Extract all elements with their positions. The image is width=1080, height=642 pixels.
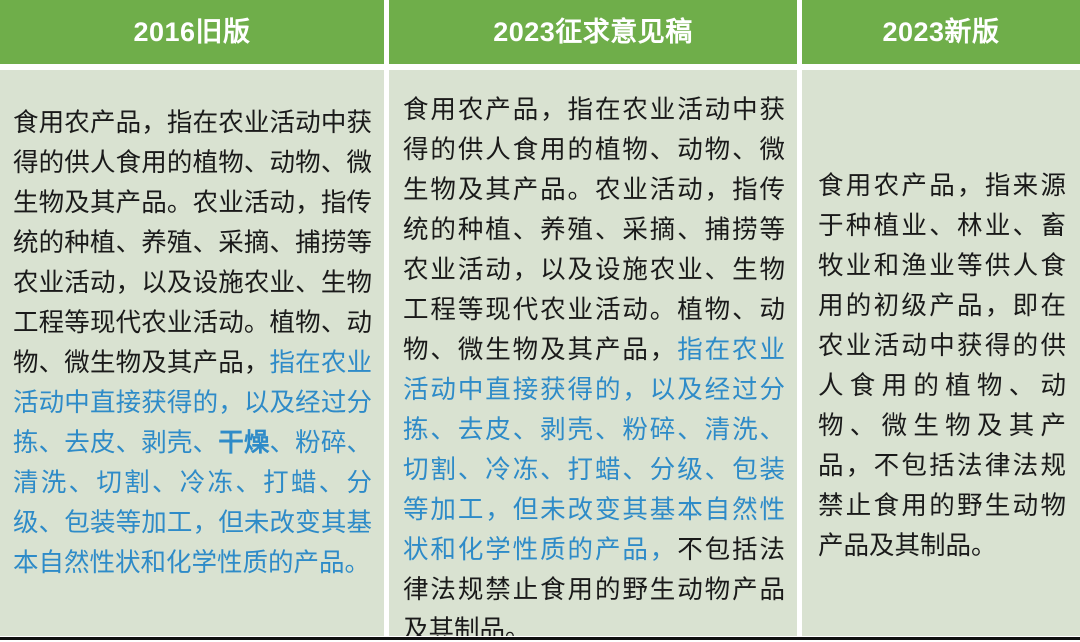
table-header-row: 2016旧版 2023征求意见稿 2023新版 bbox=[0, 0, 1080, 64]
table-body-row: 食用农产品，指在农业活动中获得的供人食用的植物、动物、微生物及其产品。农业活动，… bbox=[0, 70, 1080, 636]
cell-paragraph-2023-new: 食用农产品，指来源于种植业、林业、畜牧业和渔业等供人食用的初级产品，即在农业活动… bbox=[818, 166, 1066, 566]
cell-paragraph-2023-draft: 食用农产品，指在农业活动中获得的供人食用的植物、动物、微生物及其产品。农业活动，… bbox=[403, 90, 785, 636]
text-segment-2: 指在农业活动中直接获得的，以及经过分拣、去皮、剥壳、粉碎、清洗、切割、冷冻、打蜡… bbox=[403, 336, 785, 564]
text-segment-3: 干燥 bbox=[218, 429, 269, 457]
comparison-table: 2016旧版 2023征求意见稿 2023新版 食用农产品，指在农业活动中获得的… bbox=[0, 0, 1080, 642]
body-cell-2023-new: 食用农产品，指来源于种植业、林业、畜牧业和渔业等供人食用的初级产品，即在农业活动… bbox=[802, 70, 1080, 636]
header-cell-2023-new: 2023新版 bbox=[802, 0, 1080, 64]
header-label-2016-old: 2016旧版 bbox=[133, 19, 250, 46]
header-label-2023-draft: 2023征求意见稿 bbox=[493, 19, 693, 46]
cell-paragraph-2016-old: 食用农产品，指在农业活动中获得的供人食用的植物、动物、微生物及其产品。农业活动，… bbox=[13, 103, 372, 583]
body-cell-2016-old: 食用农产品，指在农业活动中获得的供人食用的植物、动物、微生物及其产品。农业活动，… bbox=[0, 70, 384, 636]
text-segment-1: 食用农产品，指在农业活动中获得的供人食用的植物、动物、微生物及其产品。农业活动，… bbox=[13, 109, 372, 377]
header-cell-2016-old: 2016旧版 bbox=[0, 0, 384, 64]
text-segment-1: 食用农产品，指来源于种植业、林业、畜牧业和渔业等供人食用的初级产品，即在农业活动… bbox=[818, 172, 1066, 560]
body-cell-2023-draft: 食用农产品，指在农业活动中获得的供人食用的植物、动物、微生物及其产品。农业活动，… bbox=[389, 70, 797, 636]
bottom-rule bbox=[0, 637, 1080, 640]
header-cell-2023-draft: 2023征求意见稿 bbox=[389, 0, 797, 64]
text-segment-1: 食用农产品，指在农业活动中获得的供人食用的植物、动物、微生物及其产品。农业活动，… bbox=[403, 96, 785, 364]
header-label-2023-new: 2023新版 bbox=[882, 19, 999, 46]
